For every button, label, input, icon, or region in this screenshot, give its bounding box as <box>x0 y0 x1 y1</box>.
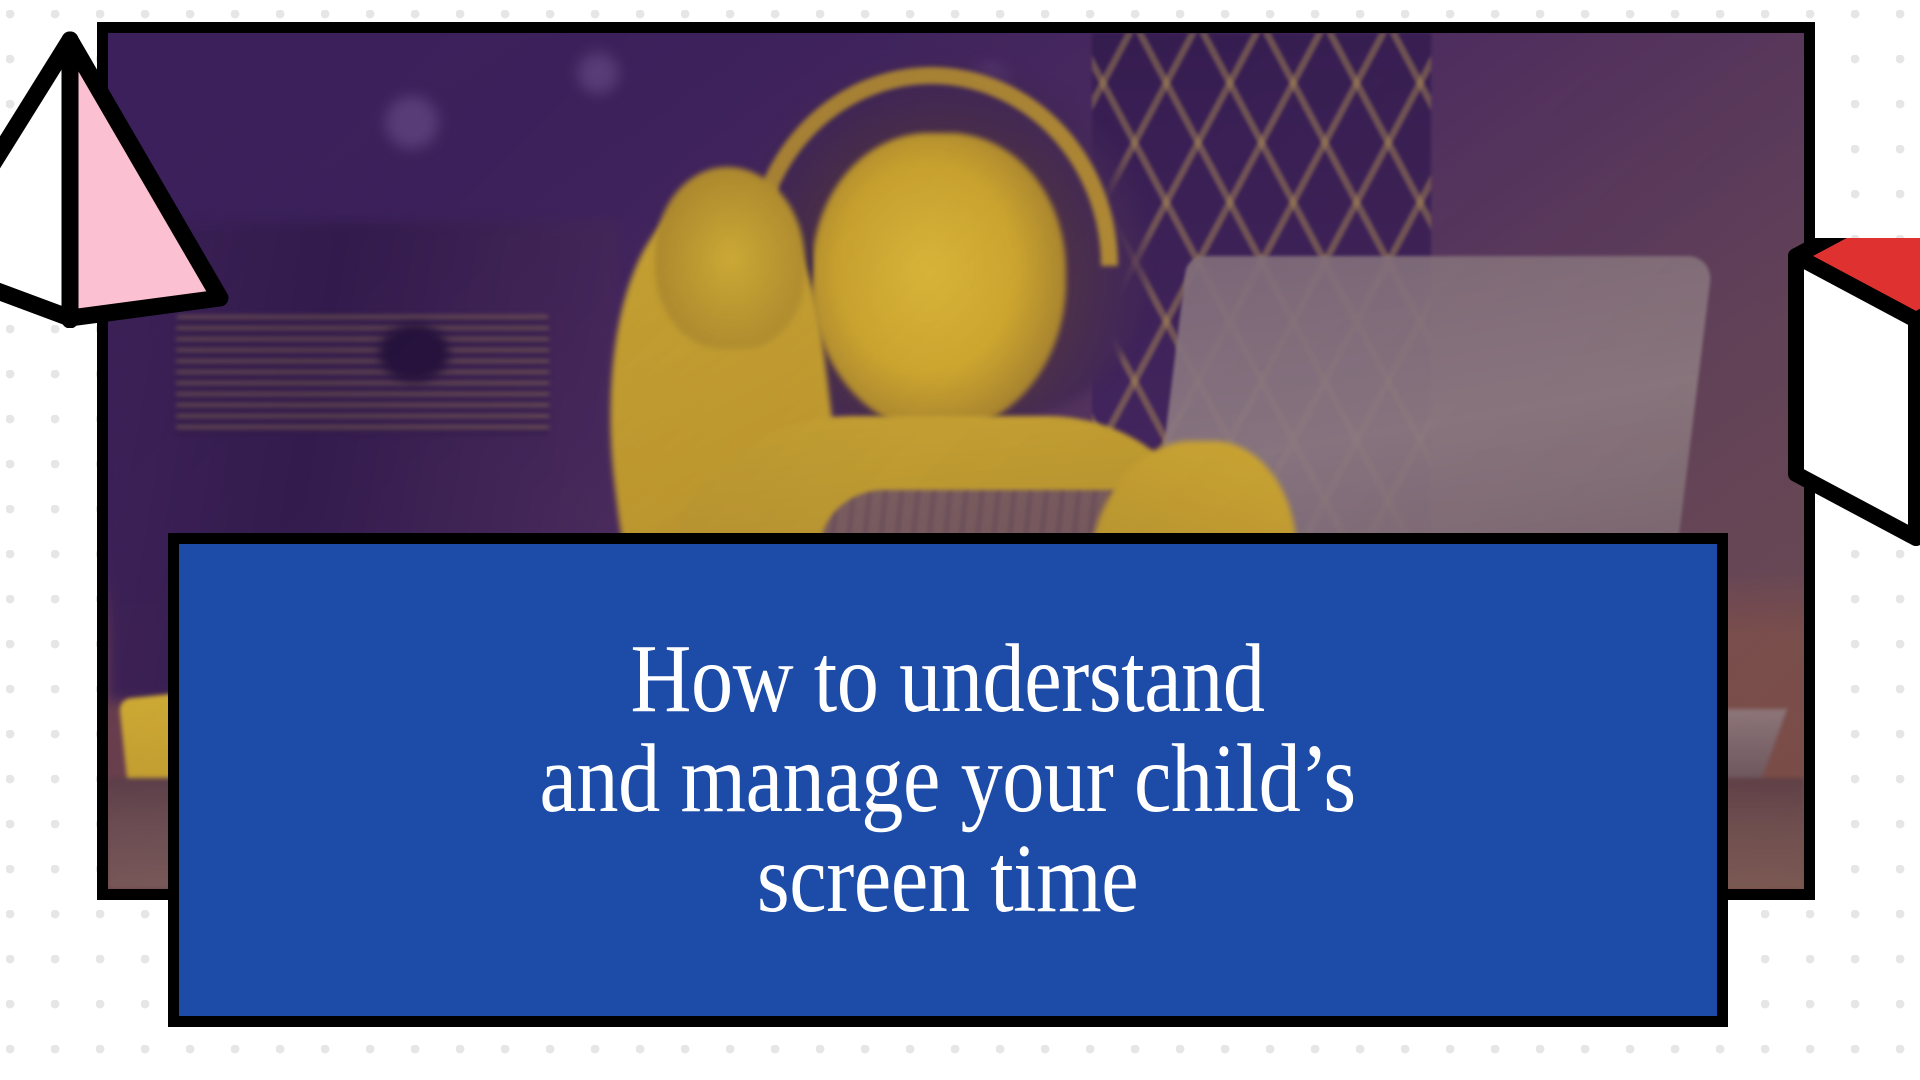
title-card: How to understand and manage your child’… <box>168 533 1728 1027</box>
cube-icon <box>1678 238 1920 568</box>
pyramid-right-face <box>70 40 220 318</box>
pyramid-icon <box>0 18 232 328</box>
page-title: How to understand and manage your child’… <box>519 630 1377 930</box>
title-card-inner: How to understand and manage your child’… <box>179 544 1717 1016</box>
poster-canvas: How to understand and manage your child’… <box>0 0 1920 1080</box>
pyramid-left-face <box>0 40 70 318</box>
